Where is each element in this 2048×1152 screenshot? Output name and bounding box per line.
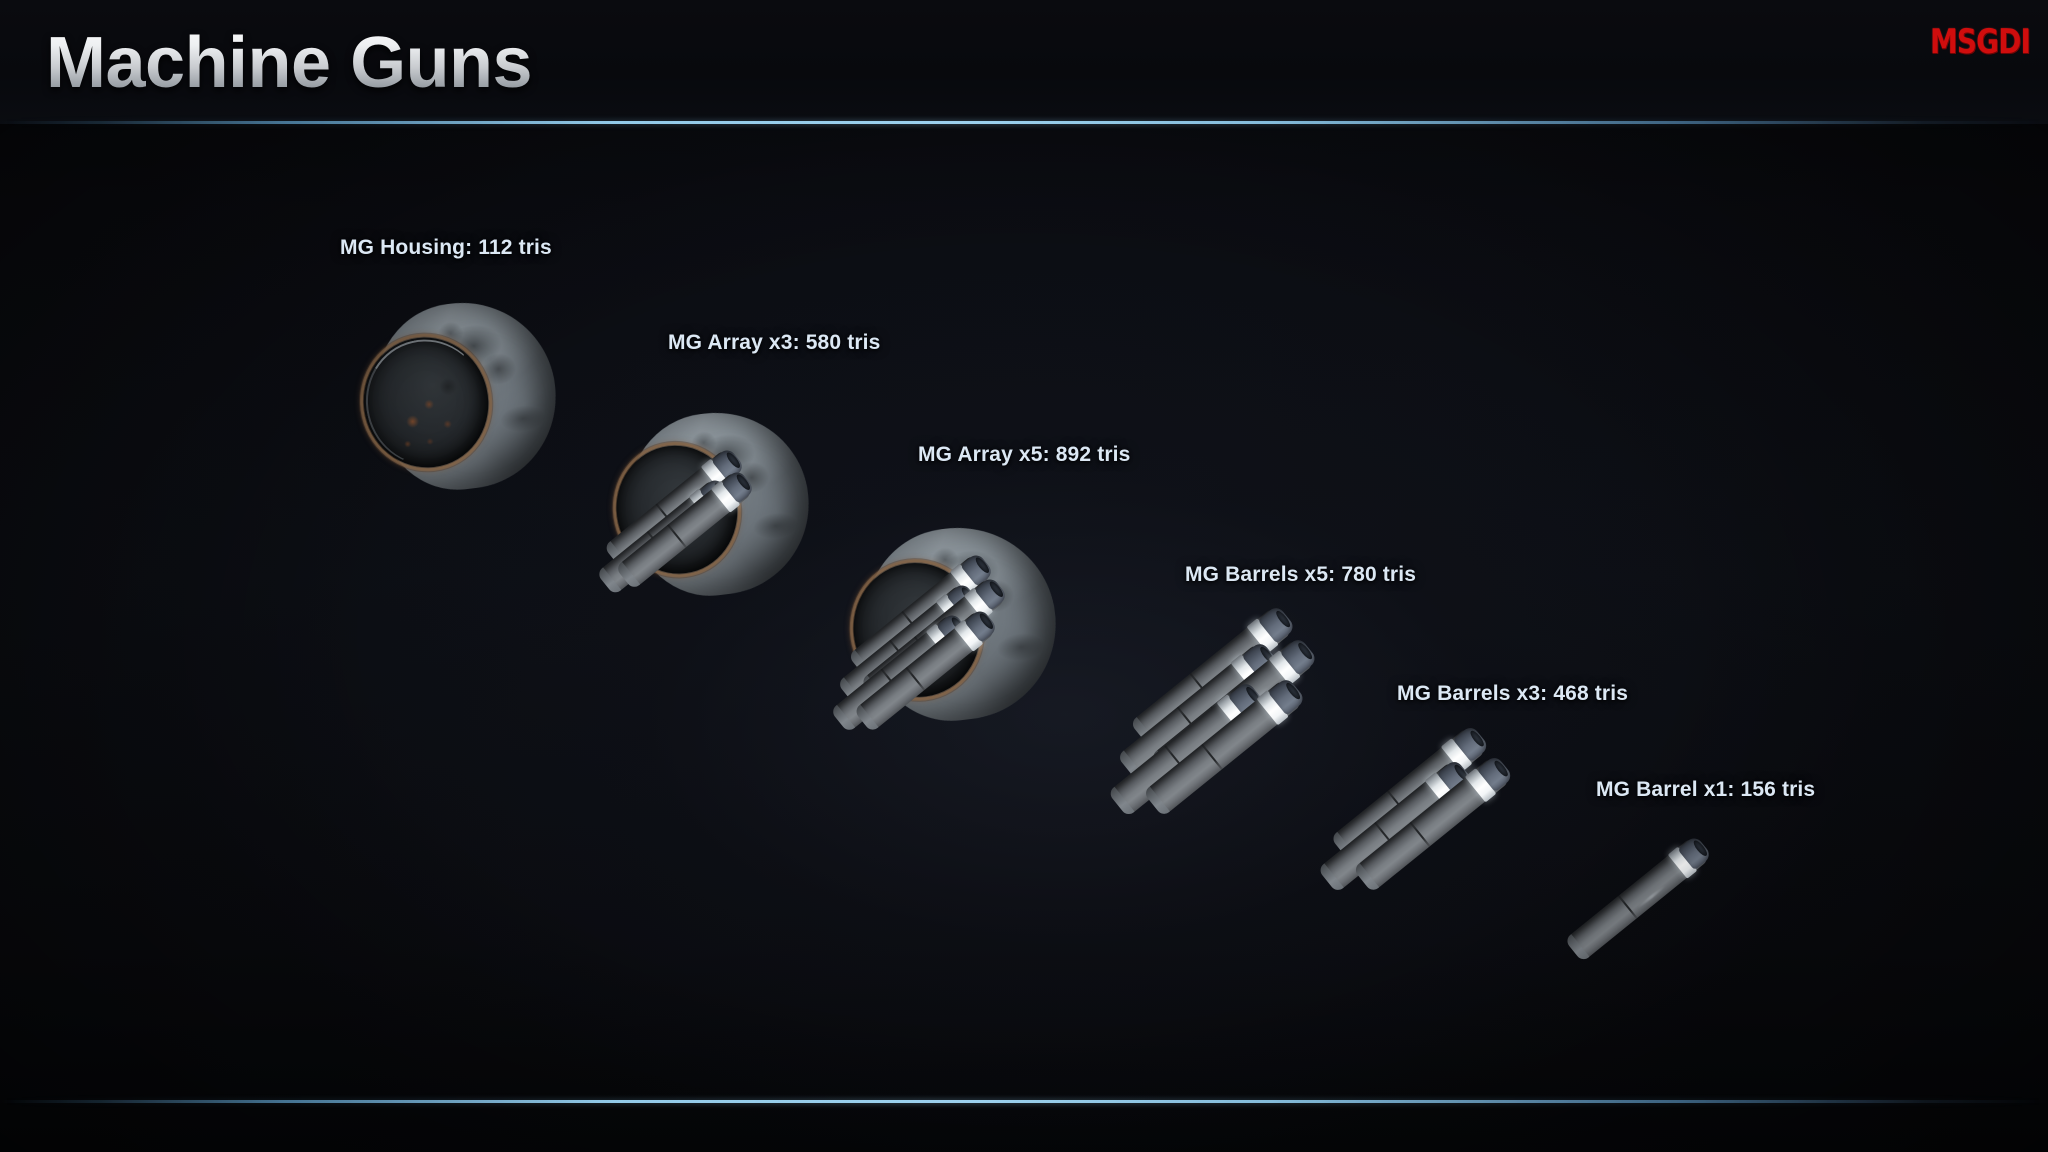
page-title: Machine Guns [46, 22, 532, 104]
label-mg-array-x3: MG Array x3: 580 tris [668, 331, 880, 355]
divider-top [0, 121, 2048, 124]
label-mg-barrels-x5: MG Barrels x5: 780 tris [1185, 563, 1416, 587]
msgdi-logo: MSGDI [1930, 22, 2030, 62]
label-mg-array-x5: MG Array x5: 892 tris [918, 443, 1130, 467]
model-mg-array-x5 [810, 525, 1090, 785]
barrel1-barrel-1 [1567, 837, 1710, 960]
divider-bottom [0, 1100, 2048, 1103]
model-mg-barrel-x1 [1540, 830, 1760, 960]
slide-canvas: MG Housing: 112 tris MG Array x3: 580 tr… [0, 0, 2048, 1152]
label-mg-housing: MG Housing: 112 tris [340, 236, 552, 260]
label-mg-barrels-x3: MG Barrels x3: 468 tris [1397, 682, 1628, 706]
slide-header: Machine Guns MSGDI [0, 0, 2048, 124]
label-mg-barrel-x1: MG Barrel x1: 156 tris [1596, 778, 1815, 802]
model-mg-array-x3 [585, 410, 835, 650]
model-mg-housing [339, 288, 570, 512]
